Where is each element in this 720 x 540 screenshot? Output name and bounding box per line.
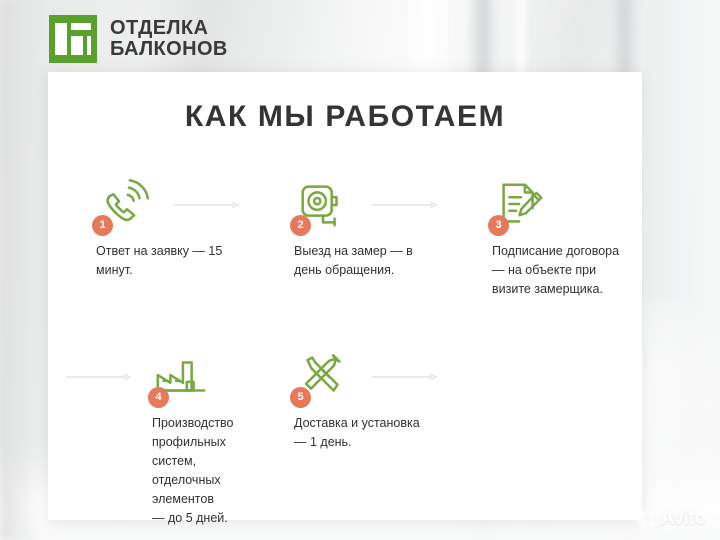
step-1-number: 1 xyxy=(92,215,113,236)
steps-row-2: 4 Производство профильных систем, отдело… xyxy=(48,340,642,528)
step-5-text: Доставка и установка — 1 день. xyxy=(246,414,444,452)
brand-header: ОТДЕЛКА БАЛКОНОВ xyxy=(48,14,228,64)
step-4-text: Производство профильных систем, отделочн… xyxy=(48,414,246,528)
step-connector-1 xyxy=(174,200,240,210)
avito-dots-icon xyxy=(637,509,657,529)
avito-wordmark: Avito xyxy=(661,508,706,530)
step-item-3: 3 Подписание договора — на объекте при в… xyxy=(444,168,642,299)
background-left-shadow xyxy=(0,0,40,540)
step-item-5: 5 Доставка и установка — 1 день. xyxy=(246,340,444,528)
step-connector-2 xyxy=(372,200,438,210)
step-3-number: 3 xyxy=(488,215,509,236)
step-1-text: Ответ на заявку — 15 минут. xyxy=(48,242,246,280)
step-item-1: 1 Ответ на заявку — 15 минут. xyxy=(48,168,246,299)
ob-monogram-logo-icon xyxy=(48,14,98,64)
step-connector-4 xyxy=(372,372,438,382)
steps-row-1: 1 Ответ на заявку — 15 минут. xyxy=(48,168,642,299)
process-card: КАК МЫ РАБОТАЕМ 1 xyxy=(48,72,642,520)
step-item-2: 2 Выезд на замер — в день обращения. xyxy=(246,168,444,299)
page-title: КАК МЫ РАБОТАЕМ xyxy=(48,100,642,134)
step-2-text: Выезд на замер — в день обращения. xyxy=(246,242,444,280)
step-item-4: 4 Производство профильных систем, отдело… xyxy=(48,340,246,528)
step-3-text: Подписание договора — на объекте при виз… xyxy=(444,242,642,299)
step-2-number: 2 xyxy=(290,215,311,236)
step-3-icon-slot: 3 xyxy=(444,168,642,242)
screenshot-stage: ОТДЕЛКА БАЛКОНОВ КАК МЫ РАБОТАЕМ 1 xyxy=(0,0,720,540)
step-4-number: 4 xyxy=(148,387,169,408)
step-5-number: 5 xyxy=(290,387,311,408)
steps-row-2-spacer xyxy=(444,340,642,528)
step-4-icon-slot: 4 xyxy=(48,340,246,414)
avito-watermark: Avito xyxy=(637,508,706,530)
brand-name: ОТДЕЛКА БАЛКОНОВ xyxy=(110,18,228,60)
